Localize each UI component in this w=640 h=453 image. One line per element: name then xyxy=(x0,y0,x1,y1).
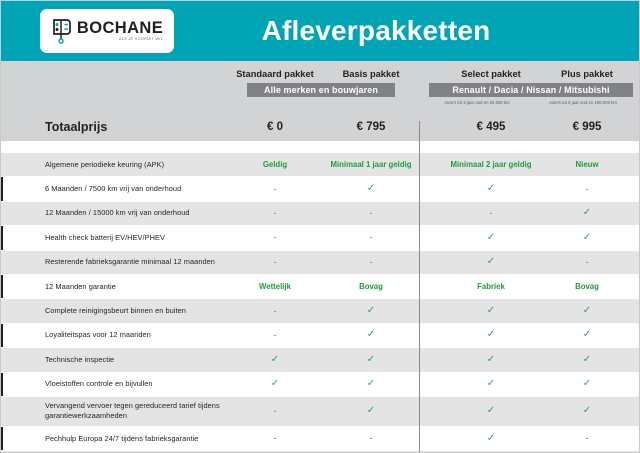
comparison-table: Standaard pakket Basis pakket Select pak… xyxy=(1,61,639,453)
afleverpakketten-page: BOCHANE ALS JE VOORUIT WIL Afleverpakket… xyxy=(0,0,640,453)
feature-label: Loyaliteitspas voor 12 maanden xyxy=(45,330,151,340)
cell-basis: - xyxy=(323,226,419,249)
bochane-logo-icon xyxy=(51,18,73,44)
table-row: Pechhulp Europa 24/7 tijdens fabrieksgar… xyxy=(1,426,639,450)
check-icon: ✓ xyxy=(583,355,591,365)
total-price-label: Totaalprijs xyxy=(45,120,107,134)
price-basis: € 795 xyxy=(357,121,386,133)
feature-label-cell: Pechhulp Europa 24/7 tijdens fabrieksgar… xyxy=(1,427,227,450)
page-title-text: Afleverpakketten xyxy=(262,15,491,47)
cell-select: ✓ xyxy=(443,397,539,426)
table-row: Vervangend vervoer tegen gereduceerd tar… xyxy=(1,396,639,426)
cell-select: ✓ xyxy=(443,427,539,450)
table-row: Complete reinigingsbeurt binnen en buite… xyxy=(1,298,639,322)
dash-icon: - xyxy=(586,258,589,267)
cell-plus: ✓ xyxy=(539,348,635,371)
cell-select: ✓ xyxy=(443,226,539,249)
group-spacer-row xyxy=(419,324,443,347)
feature-label-cell: Vloeistoffen controle en bijvullen xyxy=(1,373,227,396)
price-cell-basis: € 795 xyxy=(323,113,419,141)
check-icon: ✓ xyxy=(271,355,279,365)
cell-basis: ✓ xyxy=(323,299,419,322)
table-row: Vloeistoffen controle en bijvullen✓✓✓✓ xyxy=(1,372,639,396)
feature-label: 6 Maanden / 7500 km vrij van onderhoud xyxy=(45,184,181,194)
group-divider xyxy=(419,121,420,453)
dash-icon: - xyxy=(274,407,277,416)
feature-label: Vloeistoffen controle en bijvullen xyxy=(45,379,153,389)
feature-label: Technische inspectie xyxy=(45,355,114,365)
feature-label-cell: 12 Maanden / 15000 km vrij van onderhoud xyxy=(1,202,227,225)
table-row: Loyaliteitspas voor 12 maanden-✓✓✓ xyxy=(1,323,639,347)
cell-basis: ✓ xyxy=(323,324,419,347)
price-cell-select: € 495 xyxy=(443,113,539,141)
value-text: Nieuw xyxy=(576,160,599,169)
check-icon: ✓ xyxy=(367,379,375,389)
feature-label: Algemene periodieke keuring (APK) xyxy=(45,160,164,170)
header-spacer xyxy=(1,61,227,113)
cell-plus: ✓ xyxy=(539,299,635,322)
feature-label: 12 Maanden garantie xyxy=(45,282,116,292)
cell-basis: ✓ xyxy=(323,397,419,426)
feature-rows: Algemene periodieke keuring (APK)GeldigM… xyxy=(1,152,639,453)
cell-plus: ✓ xyxy=(539,324,635,347)
check-icon: ✓ xyxy=(583,233,591,243)
cell-plus: ✓ xyxy=(539,397,635,426)
cell-basis: ✓ xyxy=(323,348,419,371)
check-icon: ✓ xyxy=(367,355,375,365)
value-text: Geldig xyxy=(263,160,287,169)
dash-icon: - xyxy=(274,434,277,443)
feature-label-cell: Loyaliteitspas voor 12 maanden xyxy=(1,324,227,347)
check-icon: ✓ xyxy=(271,379,279,389)
check-icon: ✓ xyxy=(487,379,495,389)
feature-label: Complete reinigingsbeurt binnen en buite… xyxy=(45,306,186,316)
group-spacer-row xyxy=(419,177,443,200)
cell-basis: ✓ xyxy=(323,177,419,200)
check-icon: ✓ xyxy=(583,306,591,316)
cell-plus: ✓ xyxy=(539,202,635,225)
cell-basis: Minimaal 1 jaar geldig xyxy=(323,153,419,176)
cell-standaard: ✓ xyxy=(227,348,323,371)
cell-plus: - xyxy=(539,177,635,200)
package-name-select: Select pakket xyxy=(461,69,520,79)
check-icon: ✓ xyxy=(367,406,375,416)
feature-label: Pechhulp Europa 24/7 tijdens fabrieksgar… xyxy=(45,434,198,444)
group-spacer-row xyxy=(419,202,443,225)
cell-select: ✓ xyxy=(443,251,539,274)
price-cell-standaard: € 0 xyxy=(227,113,323,141)
cell-standaard: - xyxy=(227,226,323,249)
group-spacer-row xyxy=(419,251,443,274)
total-price-label-cell: Totaalprijs xyxy=(1,113,227,141)
check-icon: ✓ xyxy=(583,330,591,340)
table-row: Technische inspectie✓✓✓✓ xyxy=(1,347,639,371)
package-name-standaard: Standaard pakket xyxy=(236,69,314,79)
cell-select: ✓ xyxy=(443,177,539,200)
feature-label: 12 Maanden / 15000 km vrij van onderhoud xyxy=(45,208,190,218)
feature-label-cell: Technische inspectie xyxy=(1,348,227,371)
cell-plus: ✓ xyxy=(539,226,635,249)
package-name-plus: Plus pakket xyxy=(561,69,613,79)
price-select: € 495 xyxy=(477,121,506,133)
cell-standaard: Wettelijk xyxy=(227,275,323,298)
group-spacer-row xyxy=(419,373,443,396)
feature-label: Health check batterij EV/HEV/PHEV xyxy=(45,233,165,243)
check-icon: ✓ xyxy=(487,330,495,340)
group-spacer-row xyxy=(419,275,443,298)
value-text: Bovag xyxy=(575,282,599,291)
feature-label: Resterende fabrieksgarantie minimaal 12 … xyxy=(45,257,215,267)
brand-name: BOCHANE xyxy=(77,20,163,37)
cell-select: ✓ xyxy=(443,348,539,371)
cell-select: Fabriek xyxy=(443,275,539,298)
value-text: Fabriek xyxy=(477,282,505,291)
brand-tagline: ALS JE VOORUIT WIL xyxy=(119,38,163,42)
cell-plus: ✓ xyxy=(539,373,635,396)
cell-plus: - xyxy=(539,251,635,274)
cell-basis: ✓ xyxy=(323,373,419,396)
check-icon: ✓ xyxy=(487,233,495,243)
value-text: Bovag xyxy=(359,282,383,291)
package-name-basis: Basis pakket xyxy=(343,69,400,79)
cell-standaard: - xyxy=(227,427,323,450)
cell-standaard: - xyxy=(227,251,323,274)
dash-icon: - xyxy=(370,209,373,218)
dash-icon: - xyxy=(370,434,373,443)
dash-icon: - xyxy=(586,185,589,194)
dash-icon: - xyxy=(274,331,277,340)
cell-basis: - xyxy=(323,202,419,225)
value-text: Minimaal 2 jaar geldig xyxy=(450,160,531,169)
table-row: 6 Maanden / 7500 km vrij van onderhoud-✓… xyxy=(1,176,639,200)
feature-label-cell: Algemene periodieke keuring (APK) xyxy=(1,153,227,176)
table-header-row: Standaard pakket Basis pakket Select pak… xyxy=(1,61,639,113)
dash-icon: - xyxy=(370,233,373,242)
group-spacer-row xyxy=(419,427,443,450)
feature-label-cell: Resterende fabrieksgarantie minimaal 12 … xyxy=(1,251,227,274)
cell-standaard: - xyxy=(227,397,323,426)
group-spacer-row xyxy=(419,299,443,322)
cell-select: - xyxy=(443,202,539,225)
check-icon: ✓ xyxy=(487,257,495,267)
cell-select: ✓ xyxy=(443,299,539,322)
price-plus: € 995 xyxy=(573,121,602,133)
feature-label-cell: 12 Maanden garantie xyxy=(1,275,227,298)
value-text: Wettelijk xyxy=(259,282,291,291)
group-band-all-brands: Alle merken en bouwjaren xyxy=(247,83,395,97)
group-band-renault-group: Renault / Dacia / Nissan / Mitsubishi xyxy=(429,83,633,97)
dash-icon: - xyxy=(274,258,277,267)
check-icon: ✓ xyxy=(583,406,591,416)
feature-label-cell: Vervangend vervoer tegen gereduceerd tar… xyxy=(1,397,227,426)
dash-icon: - xyxy=(274,185,277,194)
group-spacer-row xyxy=(419,348,443,371)
cell-standaard: - xyxy=(227,202,323,225)
price-cell-plus: € 995 xyxy=(539,113,635,141)
check-icon: ✓ xyxy=(487,184,495,194)
package-fineprint-select: Auto's tot 3 jaar oud en 20.000 km xyxy=(425,100,529,105)
check-icon: ✓ xyxy=(487,306,495,316)
check-icon: ✓ xyxy=(583,208,591,218)
dash-icon: - xyxy=(490,209,493,218)
cell-plus: Nieuw xyxy=(539,153,635,176)
group-spacer-total xyxy=(419,113,443,141)
dash-icon: - xyxy=(370,258,373,267)
table-row: Resterende fabrieksgarantie minimaal 12 … xyxy=(1,250,639,274)
cell-standaard: - xyxy=(227,324,323,347)
header-body-spacer xyxy=(1,141,639,152)
check-icon: ✓ xyxy=(583,379,591,389)
check-icon: ✓ xyxy=(367,184,375,194)
package-fineprint-plus: Auto's tot 5 jaar oud en 100.000 km xyxy=(531,100,635,105)
check-icon: ✓ xyxy=(367,306,375,316)
value-text: Minimaal 1 jaar geldig xyxy=(330,160,411,169)
total-price-row: Totaalprijs € 0 € 795 € 495 € 995 xyxy=(1,113,639,141)
feature-label-cell: Complete reinigingsbeurt binnen en buite… xyxy=(1,299,227,322)
cell-basis: - xyxy=(323,427,419,450)
cell-basis: Bovag xyxy=(323,275,419,298)
check-icon: ✓ xyxy=(487,355,495,365)
table-row: Health check batterij EV/HEV/PHEV--✓✓ xyxy=(1,225,639,249)
feature-label-cell: Health check batterij EV/HEV/PHEV xyxy=(1,226,227,249)
cell-standaard: ✓ xyxy=(227,373,323,396)
cell-select: ✓ xyxy=(443,324,539,347)
dash-icon: - xyxy=(274,233,277,242)
table-row: 12 Maanden garantieWettelijkBovagFabriek… xyxy=(1,274,639,298)
cell-standaard: Geldig xyxy=(227,153,323,176)
group-spacer-row xyxy=(419,153,443,176)
cell-standaard: - xyxy=(227,177,323,200)
cell-plus: Bovag xyxy=(539,275,635,298)
dash-icon: - xyxy=(586,434,589,443)
group-spacer-row xyxy=(419,397,443,426)
feature-label: Vervangend vervoer tegen gereduceerd tar… xyxy=(45,401,227,421)
page-header: BOCHANE ALS JE VOORUIT WIL Afleverpakket… xyxy=(1,1,639,61)
table-row: 12 Maanden / 15000 km vrij van onderhoud… xyxy=(1,201,639,225)
check-icon: ✓ xyxy=(367,330,375,340)
price-standaard: € 0 xyxy=(267,121,283,133)
cell-plus: - xyxy=(539,427,635,450)
cell-basis: - xyxy=(323,251,419,274)
cell-select: ✓ xyxy=(443,373,539,396)
brand-logo[interactable]: BOCHANE ALS JE VOORUIT WIL xyxy=(40,9,174,53)
cell-standaard: - xyxy=(227,299,323,322)
table-row: Algemene periodieke keuring (APK)GeldigM… xyxy=(1,152,639,176)
cell-select: Minimaal 2 jaar geldig xyxy=(443,153,539,176)
check-icon: ✓ xyxy=(487,434,495,444)
group-spacer-row xyxy=(419,226,443,249)
feature-label-cell: 6 Maanden / 7500 km vrij van onderhoud xyxy=(1,177,227,200)
check-icon: ✓ xyxy=(487,406,495,416)
dash-icon: - xyxy=(274,209,277,218)
dash-icon: - xyxy=(274,307,277,316)
